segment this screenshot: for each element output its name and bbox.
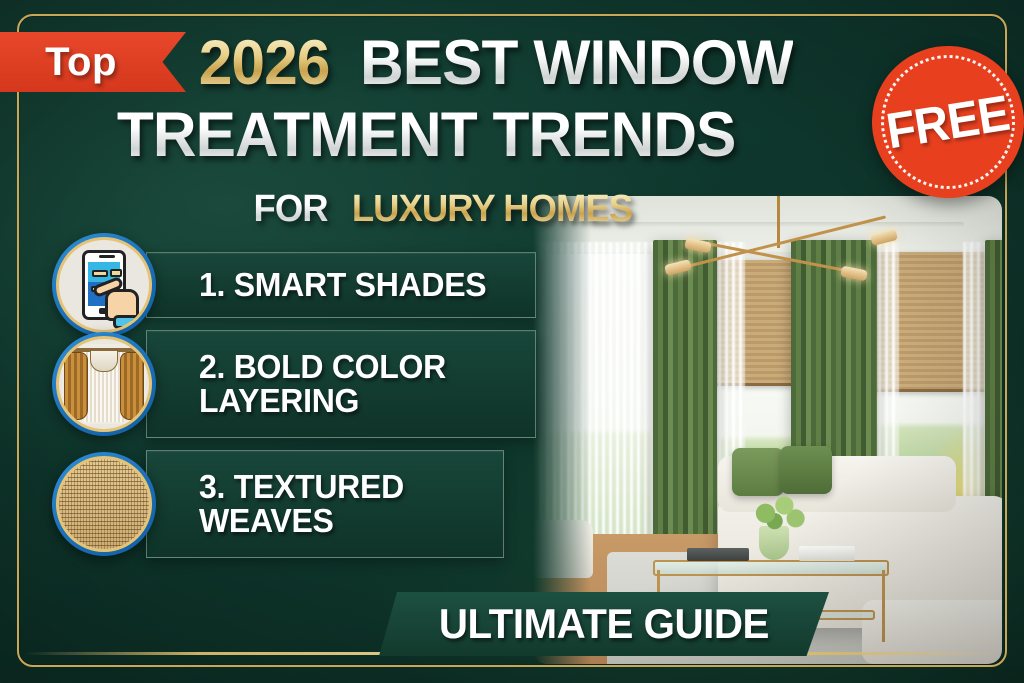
plant-arrangement: [741, 488, 811, 534]
top-ribbon-badge: Top: [0, 32, 186, 92]
brass-chandelier: [659, 196, 899, 316]
curtain-panel-left: [64, 352, 88, 420]
ultimate-guide-label: ULTIMATE GUIDE: [439, 600, 769, 648]
free-badge-label: FREE: [883, 84, 1013, 161]
headline-line-1-white: BEST WINDOW: [360, 32, 793, 95]
free-badge: FREE: [861, 35, 1024, 209]
list-item-bar: 1. SMART SHADES: [146, 252, 536, 318]
table-top: [653, 560, 889, 576]
headline-line-3: FOR LUXURY HOMES: [252, 190, 638, 228]
valance: [90, 350, 118, 372]
phone-notch: [99, 255, 115, 258]
headline-luxury-homes: LUXURY HOMES: [352, 190, 632, 228]
list-item: 1. SMART SHADES: [0, 252, 560, 318]
list-item: 3. TEXTURED WEAVES: [0, 450, 560, 558]
icon-gold-ring: [56, 237, 152, 333]
headline-line-2: TREATMENT TRENDS: [104, 104, 748, 167]
top-ribbon-label: Top: [45, 40, 117, 85]
headline-line-2-white: TREATMENT TRENDS: [117, 104, 736, 167]
list-item-label: 1. SMART SHADES: [199, 268, 486, 302]
pointing-hand-icon: [93, 269, 139, 321]
trend-list: 1. SMART SHADES: [0, 252, 560, 570]
icon-face: [59, 240, 149, 330]
headline-line-1: 2026 BEST WINDOW: [196, 32, 802, 95]
headline-for: FOR: [254, 190, 328, 228]
smart-phone-shade-icon: [52, 233, 156, 337]
books-stack: [687, 548, 749, 561]
chandelier-bulb: [870, 229, 898, 246]
woven-texture-icon: [52, 452, 156, 556]
hand-cuff: [113, 315, 143, 329]
table-leg: [882, 570, 885, 642]
chandelier-bulb: [840, 266, 868, 282]
ultimate-guide-banner: ULTIMATE GUIDE: [379, 592, 829, 656]
icon-face: [59, 339, 149, 429]
curtains-icon: [52, 332, 156, 436]
icon-face: [59, 459, 149, 549]
books-stack: [799, 546, 855, 561]
chandelier-bulb: [684, 238, 712, 254]
list-item-bar: 3. TEXTURED WEAVES: [146, 450, 504, 558]
list-item-bar: 2. BOLD COLOR LAYERING: [146, 330, 536, 438]
list-item-label: 3. TEXTURED WEAVES: [199, 470, 478, 539]
headline-year: 2026: [199, 32, 330, 95]
list-item-label: 2. BOLD COLOR LAYERING: [199, 350, 509, 419]
green-pillow: [780, 446, 832, 494]
poster-canvas: 2026 BEST WINDOW TREATMENT TRENDS FOR LU…: [0, 0, 1024, 683]
icon-gold-ring: [56, 336, 152, 432]
curtain-panel-right: [120, 352, 144, 420]
drapery-illustration: [62, 344, 146, 424]
phone-icon: [82, 250, 126, 320]
weave-pattern: [59, 459, 149, 549]
icon-gold-ring: [56, 456, 152, 552]
list-item: 2. BOLD COLOR LAYERING: [0, 330, 560, 438]
chandelier-bulb: [664, 259, 692, 276]
chandelier-stem: [777, 196, 780, 248]
